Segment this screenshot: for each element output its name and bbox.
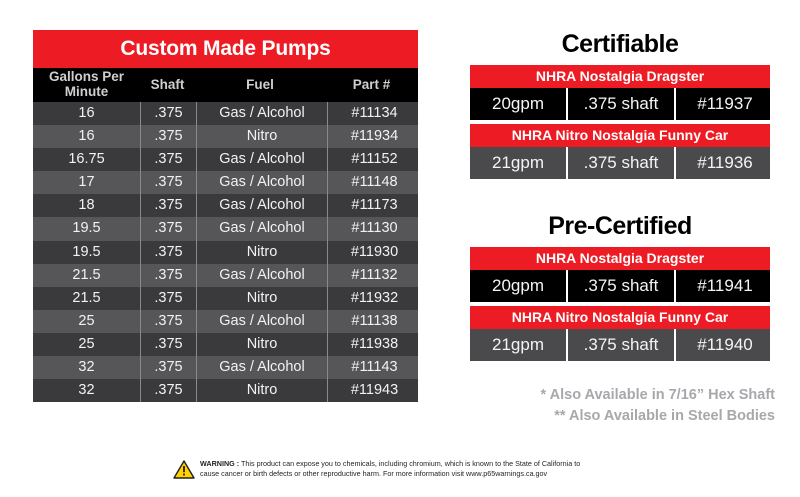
cell-shaft: .375: [140, 379, 196, 402]
table-row: 19.5.375Gas / Alcohol#11130: [33, 217, 418, 240]
class-band-label: NHRA Nostalgia Dragster: [470, 247, 770, 270]
cell-gallons-per-minute: 32: [33, 356, 140, 379]
cell-fuel: Gas / Alcohol: [196, 264, 327, 287]
cell-shaft: .375 shaft: [566, 329, 674, 361]
table-row: 20gpm.375 shaft#11937: [470, 88, 770, 120]
class-band-label: NHRA Nitro Nostalgia Funny Car: [470, 306, 770, 329]
precertified-groups: NHRA Nostalgia Dragster20gpm.375 shaft#1…: [470, 247, 770, 361]
table-row: 21.5.375Nitro#11932: [33, 287, 418, 310]
column-header-fuel: Fuel: [195, 78, 325, 93]
cell-shaft: .375: [140, 125, 196, 148]
cell-gallons-per-minute: 16.75: [33, 148, 140, 171]
cell-gallons-per-minute: 21gpm: [470, 329, 566, 361]
table-row: 16.75.375Gas / Alcohol#11152: [33, 148, 418, 171]
cell-part-number: #11173: [327, 194, 421, 217]
table-row: 20gpm.375 shaft#11941: [470, 270, 770, 302]
column-header-shaft: Shaft: [140, 78, 195, 93]
prop65-warning-line1: This product can expose you to chemicals…: [239, 459, 580, 468]
cell-part-number: #11932: [327, 287, 421, 310]
cell-part-number: #11148: [327, 171, 421, 194]
cell-shaft: .375: [140, 241, 196, 264]
cell-fuel: Gas / Alcohol: [196, 194, 327, 217]
cell-fuel: Gas / Alcohol: [196, 217, 327, 240]
pumps-table-body: 16.375Gas / Alcohol#1113416.375Nitro#119…: [33, 102, 418, 402]
table-row: 17.375Gas / Alcohol#11148: [33, 171, 418, 194]
table-row: 16.375Gas / Alcohol#11134: [33, 102, 418, 125]
table-row: 32.375Gas / Alcohol#11143: [33, 356, 418, 379]
cell-gallons-per-minute: 20gpm: [470, 270, 566, 302]
cell-gallons-per-minute: 17: [33, 171, 140, 194]
table-row: 25.375Nitro#11938: [33, 333, 418, 356]
prop65-warning-line2: cause cancer or birth defects or other r…: [200, 469, 547, 478]
cell-fuel: Nitro: [196, 333, 327, 356]
cell-gallons-per-minute: 18: [33, 194, 140, 217]
cell-gallons-per-minute: 25: [33, 310, 140, 333]
precertified-section: Pre-Certified NHRA Nostalgia Dragster20g…: [470, 212, 770, 361]
cell-part-number: #11134: [327, 102, 421, 125]
cell-shaft: .375: [140, 148, 196, 171]
cell-part-number: #11941: [674, 270, 774, 302]
cell-part-number: #11132: [327, 264, 421, 287]
table-row: 21gpm.375 shaft#11936: [470, 147, 770, 179]
table-row: 19.5.375Nitro#11930: [33, 241, 418, 264]
cell-part-number: #11934: [327, 125, 421, 148]
cell-shaft: .375: [140, 102, 196, 125]
prop65-warning: WARNING : This product can expose you to…: [173, 459, 673, 484]
cell-fuel: Gas / Alcohol: [196, 102, 327, 125]
cell-fuel: Nitro: [196, 125, 327, 148]
cell-gallons-per-minute: 25: [33, 333, 140, 356]
pumps-table-header-row: Gallons Per Minute Shaft Fuel Part #: [33, 68, 418, 102]
certifiable-groups: NHRA Nostalgia Dragster20gpm.375 shaft#1…: [470, 65, 770, 179]
cell-shaft: .375: [140, 171, 196, 194]
cell-fuel: Nitro: [196, 241, 327, 264]
cell-shaft: .375: [140, 194, 196, 217]
cell-part-number: #11143: [327, 356, 421, 379]
cell-shaft: .375: [140, 217, 196, 240]
cell-part-number: #11138: [327, 310, 421, 333]
footnote-hex-shaft: * Also Available in 7/16” Hex Shaft: [455, 385, 775, 406]
cell-shaft: .375: [140, 310, 196, 333]
cell-shaft: .375: [140, 333, 196, 356]
cell-part-number: #11930: [327, 241, 421, 264]
cell-part-number: #11130: [327, 217, 421, 240]
cell-fuel: Nitro: [196, 379, 327, 402]
prop65-warning-text: WARNING : This product can expose you to…: [200, 459, 580, 480]
cell-gallons-per-minute: 21gpm: [470, 147, 566, 179]
column-header-gpm-line1: Gallons Per: [33, 70, 140, 85]
cell-fuel: Gas / Alcohol: [196, 171, 327, 194]
cell-part-number: #11152: [327, 148, 421, 171]
cell-gallons-per-minute: 19.5: [33, 217, 140, 240]
cell-part-number: #11940: [674, 329, 774, 361]
footnotes: * Also Available in 7/16” Hex Shaft ** A…: [455, 385, 775, 427]
prop65-warning-label: WARNING :: [200, 459, 239, 468]
table-row: 25.375Gas / Alcohol#11138: [33, 310, 418, 333]
cell-gallons-per-minute: 16: [33, 125, 140, 148]
table-row: 16.375Nitro#11934: [33, 125, 418, 148]
column-header-part-number: Part #: [325, 78, 418, 93]
cell-shaft: .375: [140, 287, 196, 310]
cell-gallons-per-minute: 20gpm: [470, 88, 566, 120]
cell-shaft: .375 shaft: [566, 88, 674, 120]
cell-gallons-per-minute: 16: [33, 102, 140, 125]
cell-fuel: Gas / Alcohol: [196, 148, 327, 171]
cell-fuel: Gas / Alcohol: [196, 356, 327, 379]
precertified-title: Pre-Certified: [470, 212, 770, 241]
cell-gallons-per-minute: 19.5: [33, 241, 140, 264]
class-band-label: NHRA Nostalgia Dragster: [470, 65, 770, 88]
column-header-gpm-line2: Minute: [33, 85, 140, 100]
cell-gallons-per-minute: 21.5: [33, 287, 140, 310]
table-row: 32.375Nitro#11943: [33, 379, 418, 402]
pumps-table-title: Custom Made Pumps: [33, 30, 418, 68]
cell-gallons-per-minute: 21.5: [33, 264, 140, 287]
cell-shaft: .375: [140, 356, 196, 379]
cell-fuel: Gas / Alcohol: [196, 310, 327, 333]
cell-shaft: .375 shaft: [566, 147, 674, 179]
cell-gallons-per-minute: 32: [33, 379, 140, 402]
certifiable-section: Certifiable NHRA Nostalgia Dragster20gpm…: [470, 30, 770, 179]
cell-shaft: .375: [140, 264, 196, 287]
class-band-label: NHRA Nitro Nostalgia Funny Car: [470, 124, 770, 147]
footnote-steel-bodies: ** Also Available in Steel Bodies: [455, 406, 775, 427]
cell-part-number: #11938: [327, 333, 421, 356]
cell-shaft: .375 shaft: [566, 270, 674, 302]
cell-part-number: #11937: [674, 88, 774, 120]
cell-part-number: #11936: [674, 147, 774, 179]
column-header-gallons-per-minute: Gallons Per Minute: [33, 70, 140, 99]
table-row: 18.375Gas / Alcohol#11173: [33, 194, 418, 217]
cell-fuel: Nitro: [196, 287, 327, 310]
warning-triangle-icon: [173, 460, 195, 484]
table-row: 21gpm.375 shaft#11940: [470, 329, 770, 361]
table-row: 21.5.375Gas / Alcohol#11132: [33, 264, 418, 287]
certifiable-title: Certifiable: [470, 30, 770, 59]
cell-part-number: #11943: [327, 379, 421, 402]
custom-made-pumps-table: Custom Made Pumps Gallons Per Minute Sha…: [33, 30, 418, 402]
